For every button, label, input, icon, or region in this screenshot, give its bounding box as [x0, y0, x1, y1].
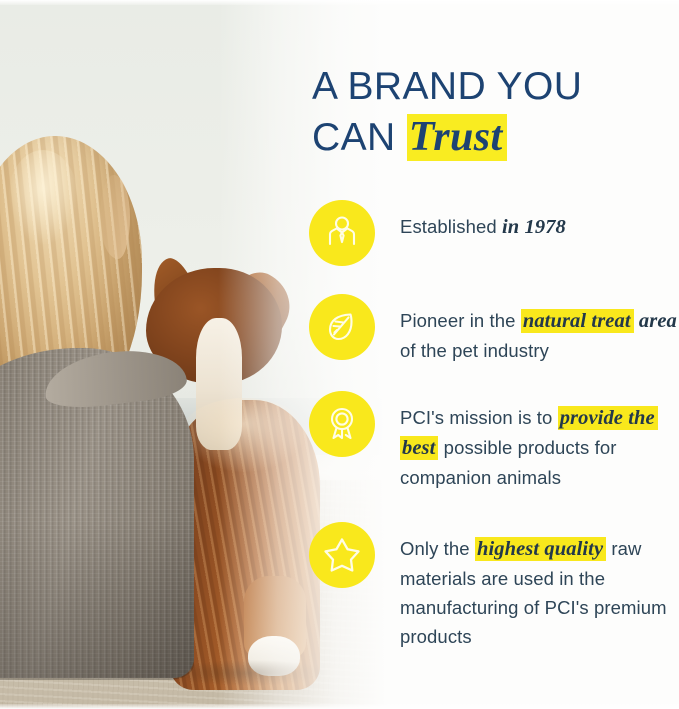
headline-emphasis-trust: Trust: [407, 114, 507, 161]
list-item-text: PCI's mission is to provide the best pos…: [400, 391, 679, 492]
benefits-list: Established in 1978 Pioneer in the natur…: [300, 200, 679, 659]
top-edge-fade: [0, 0, 679, 5]
list-item: Established in 1978: [300, 200, 679, 266]
segment-plain: PCI's mission is to: [400, 407, 558, 428]
bottom-edge-fade: [0, 704, 679, 709]
list-item: Pioneer in the natural treat area of the…: [300, 294, 679, 365]
segment-plain: Only the: [400, 538, 475, 559]
list-item-text: Established in 1978: [400, 200, 679, 242]
segment-emphasis: in 1978: [502, 216, 566, 238]
list-item: PCI's mission is to provide the best pos…: [300, 391, 679, 492]
leaf-icon: [309, 294, 375, 360]
brand-trust-infographic: A BRAND YOU CAN Trust Established in 197…: [0, 0, 679, 709]
list-item-text: Only the highest quality raw materials a…: [400, 522, 679, 651]
segment-emphasis: area: [639, 310, 677, 332]
headline-line-1: A BRAND YOU: [312, 65, 582, 108]
segment-plain: Pioneer in the: [400, 310, 521, 331]
segment-emphasis-highlight: highest quality: [475, 537, 606, 561]
star-icon: [309, 522, 375, 588]
list-item-text: Pioneer in the natural treat area of the…: [400, 294, 679, 365]
segment-plain: Established: [400, 216, 502, 237]
list-item: Only the highest quality raw materials a…: [300, 522, 679, 651]
segment-plain: of the pet industry: [400, 340, 549, 361]
person-suit-icon: [309, 200, 375, 266]
page-title: A BRAND YOU CAN Trust: [312, 62, 678, 163]
award-ribbon-icon: [309, 391, 375, 457]
content-panel: A BRAND YOU CAN Trust Established in 197…: [300, 0, 679, 709]
headline-line-2-plain: CAN: [312, 116, 407, 159]
segment-emphasis-highlight: natural treat: [521, 309, 634, 333]
